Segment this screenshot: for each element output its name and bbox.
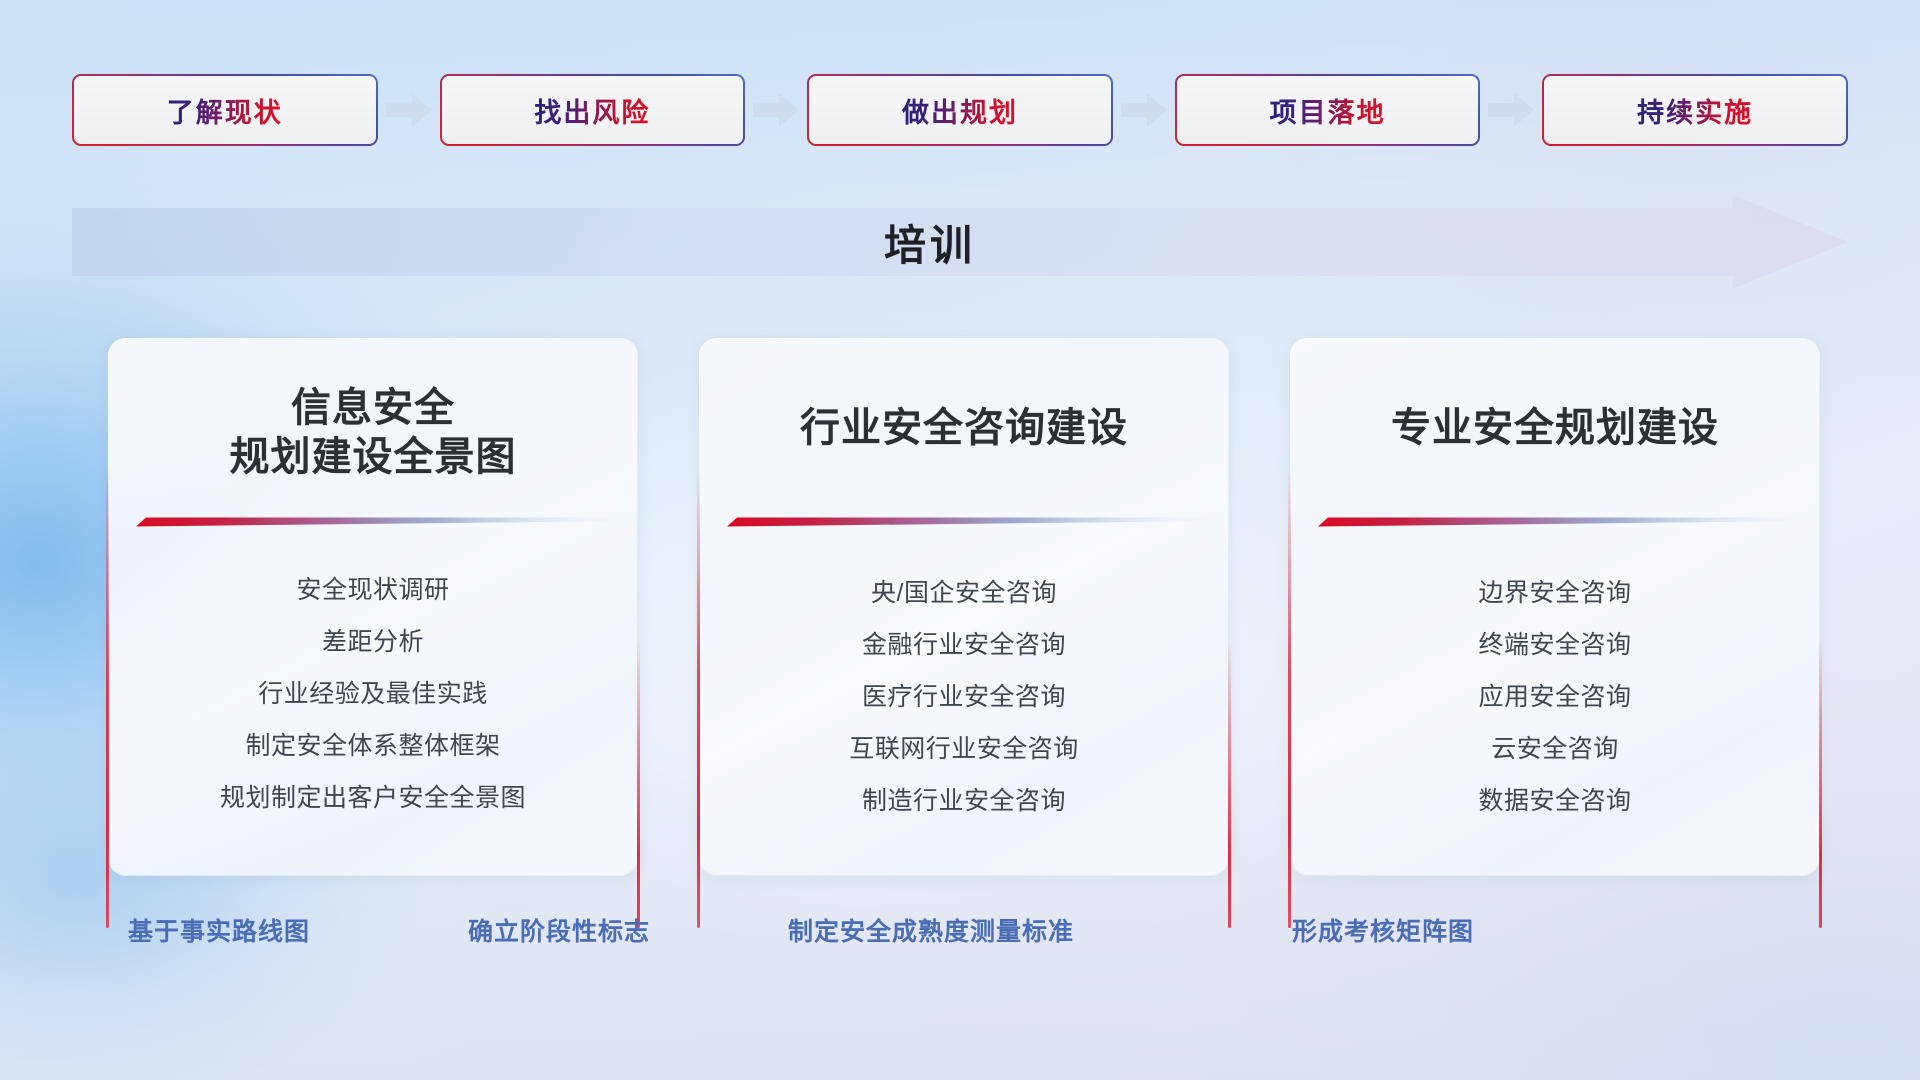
capability-card-1-list: 安全现状调研 差距分析 行业经验及最佳实践 制定安全体系整体框架 规划制定出客户… [134,578,612,811]
gradient-rule-icon [727,516,1203,528]
step-pill-3[interactable]: 做出规划 [807,74,1113,146]
step-pill-3-surface: 做出规划 [809,76,1111,144]
capability-card-3-list: 边界安全咨询 终端安全咨询 应用安全咨询 云安全咨询 数据安全咨询 [1316,581,1794,814]
gradient-rule-icon [1318,516,1794,528]
capability-card-2-list: 央/国企安全咨询 金融行业安全咨询 医疗行业安全咨询 互联网行业安全咨询 制造行… [725,581,1203,814]
capability-card-1[interactable]: 信息安全 规划建设全景图 [108,338,638,876]
card-left-red-accent [106,468,109,928]
card-right-red-accent [637,638,640,928]
list-item: 应用安全咨询 [1316,685,1794,710]
step-pill-1[interactable]: 了解现状 [72,74,378,146]
step-pill-5-label: 持续实施 [1637,91,1753,130]
list-item: 云安全咨询 [1316,737,1794,762]
card-left-red-accent [1288,468,1291,928]
list-item: 互联网行业安全咨询 [725,737,1203,762]
list-item: 边界安全咨询 [1316,581,1794,606]
list-item: 终端安全咨询 [1316,633,1794,658]
capability-card-2[interactable]: 行业安全咨询建设 [699,338,1229,876]
step-pill-4-surface: 项目落地 [1177,76,1479,144]
list-item: 制造行业安全咨询 [725,789,1203,814]
step-pill-1-label: 了解现状 [167,91,283,130]
training-banner-text-wrap: 培训 [72,195,1848,289]
step-pill-4[interactable]: 项目落地 [1175,74,1481,146]
training-banner-label: 培训 [884,212,976,273]
list-item: 制定安全体系整体框架 [134,734,612,759]
outcome-label-2: 确立阶段性标志 [468,912,650,948]
outcome-label-1: 基于事实路线图 [128,912,310,948]
list-item: 央/国企安全咨询 [725,581,1203,606]
capability-card-row: 信息安全 规划建设全景图 [108,338,1820,876]
step-pill-2-label: 找出风险 [534,91,650,130]
chevron-right-arrow-icon [1480,90,1542,130]
list-item: 差距分析 [134,630,612,655]
step-pill-2[interactable]: 找出风险 [440,74,746,146]
list-item: 金融行业安全咨询 [725,633,1203,658]
step-pill-4-label: 项目落地 [1270,91,1386,130]
list-item: 安全现状调研 [134,578,612,603]
step-pill-5[interactable]: 持续实施 [1542,74,1848,146]
chevron-right-arrow-icon [1113,90,1175,130]
process-steps-row: 了解现状 找出风险 做出规划 [72,74,1848,146]
card-left-red-accent [697,468,700,928]
capability-card-1-title: 信息安全 规划建设全景图 [134,384,612,482]
card-right-red-accent [1819,638,1822,928]
list-item: 行业经验及最佳实践 [134,682,612,707]
chevron-right-arrow-icon [745,90,807,130]
slide-canvas: 了解现状 找出风险 做出规划 [0,0,1920,1080]
step-pill-2-surface: 找出风险 [442,76,744,144]
list-item: 数据安全咨询 [1316,789,1794,814]
list-item: 规划制定出客户安全全景图 [134,786,612,811]
step-pill-5-surface: 持续实施 [1544,76,1846,144]
capability-card-3[interactable]: 专业安全规划建设 [1290,338,1820,876]
outcome-label-3: 制定安全成熟度测量标准 [788,912,1074,948]
outcome-label-row: 基于事实路线图 确立阶段性标志 制定安全成熟度测量标准 形成考核矩阵图 [0,912,1920,956]
card-right-red-accent [1228,638,1231,928]
gradient-rule-icon [136,516,612,528]
step-pill-1-surface: 了解现状 [74,76,376,144]
outcome-label-4: 形成考核矩阵图 [1292,912,1474,948]
training-banner: 培训 [72,195,1848,289]
chevron-right-arrow-icon [378,90,440,130]
step-pill-3-label: 做出规划 [902,91,1018,130]
capability-card-3-title: 专业安全规划建设 [1316,404,1794,453]
list-item: 医疗行业安全咨询 [725,685,1203,710]
capability-card-2-title: 行业安全咨询建设 [725,404,1203,453]
